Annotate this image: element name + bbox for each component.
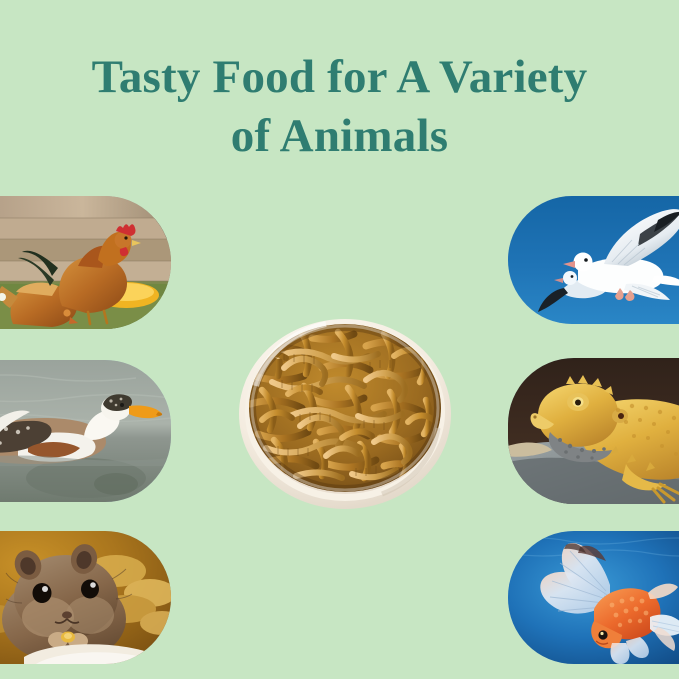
betta-fish-photo (508, 531, 679, 664)
bearded-dragon-photo (508, 358, 679, 504)
bearded-dragon-illustration (508, 358, 679, 504)
page-title: Tasty Food for A Variety of Animals (0, 48, 679, 166)
seagulls-in-flight-photo (508, 196, 679, 324)
hamster-eating-photo (0, 531, 171, 664)
product-poster: Tasty Food for A Variety of Animals (0, 0, 679, 679)
duck-swimming-photo (0, 360, 171, 502)
seagull-illustration (508, 196, 679, 324)
title-line-2: of Animals (0, 107, 679, 166)
betta-fish-illustration (508, 531, 679, 664)
title-line-1: Tasty Food for A Variety (0, 48, 679, 107)
chicken-illustration (0, 196, 171, 329)
bowl-of-dried-mealworms (238, 316, 452, 512)
duck-illustration (0, 360, 171, 502)
mealworm-bowl-illustration (238, 316, 452, 512)
hamster-illustration (0, 531, 171, 664)
rooster-and-hen-photo (0, 196, 171, 329)
